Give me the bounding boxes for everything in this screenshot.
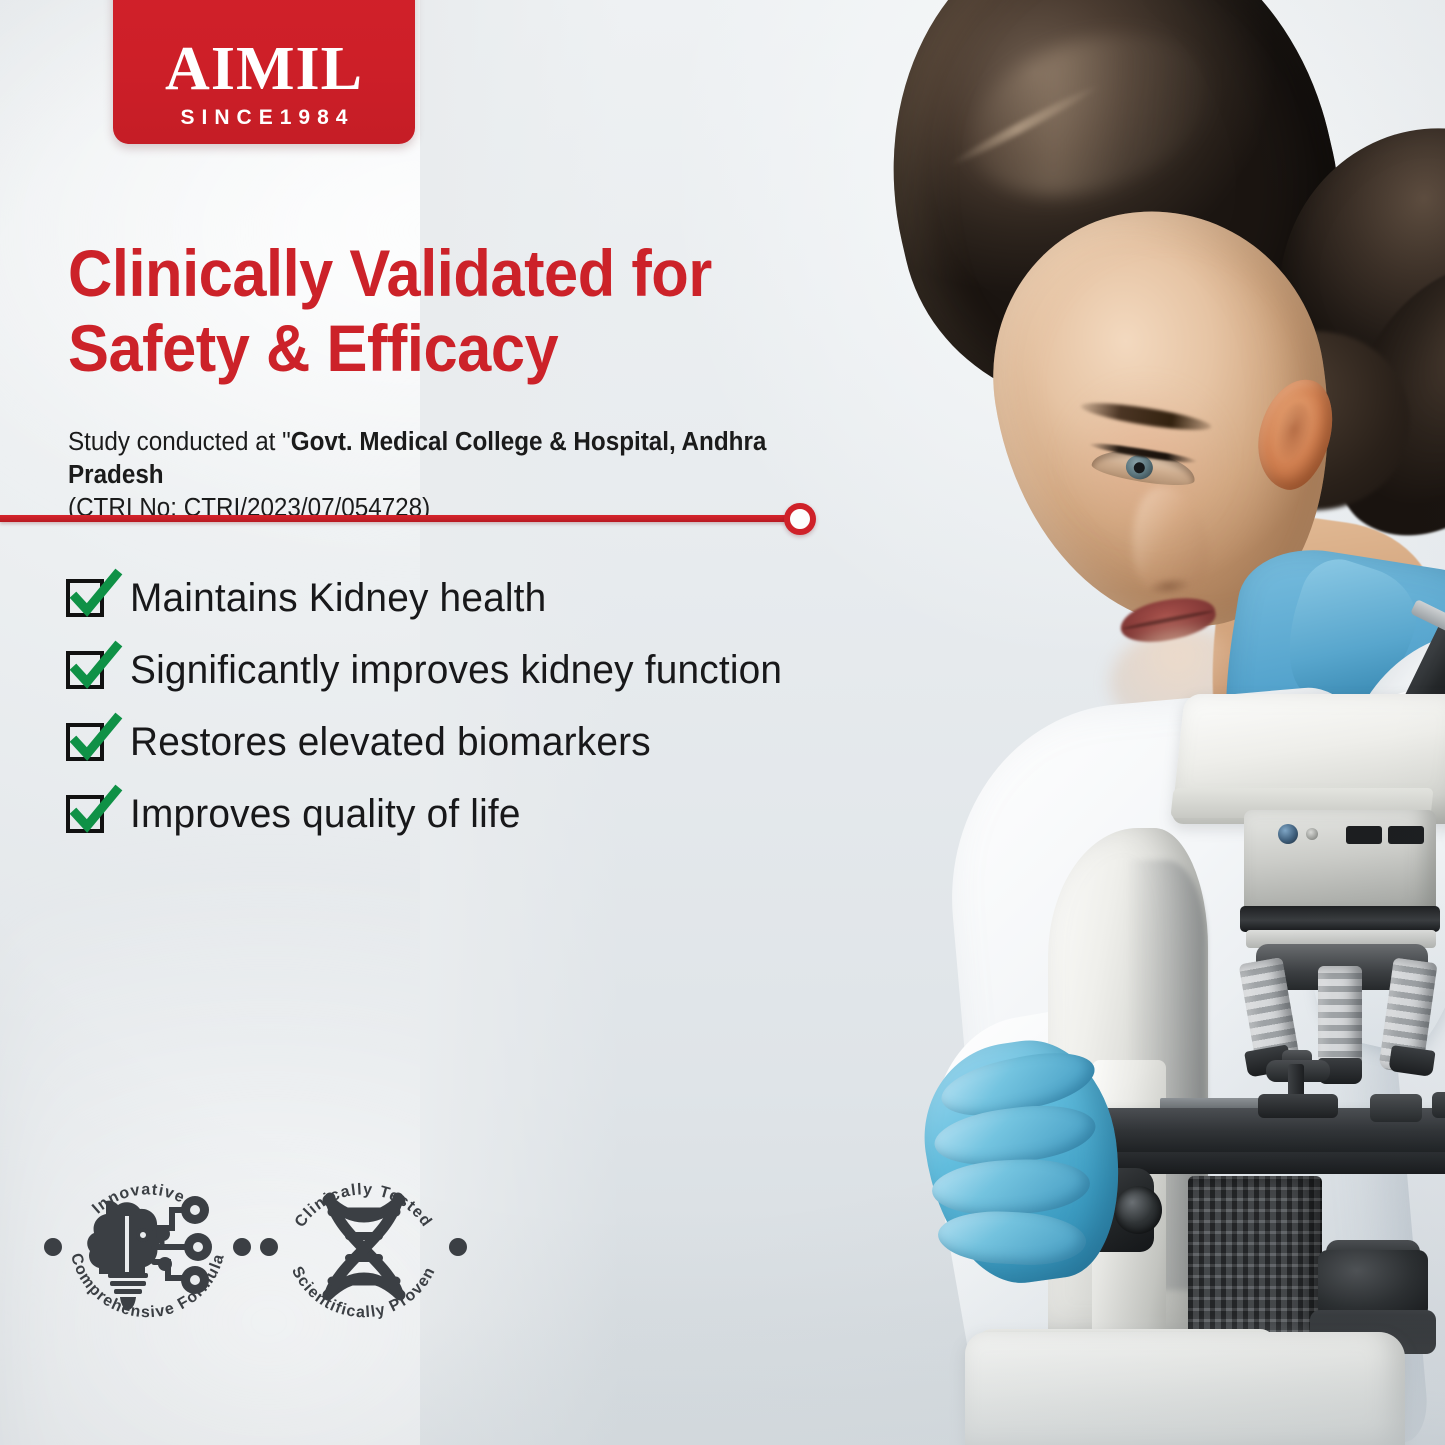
check-icon bbox=[69, 787, 121, 839]
logo-tagline: SINCE1984 bbox=[174, 106, 355, 130]
check-icon bbox=[69, 571, 121, 623]
badge-clinically-tested: Clinically Tested Scientifically Proven bbox=[256, 1140, 471, 1355]
divider-end-node bbox=[784, 503, 816, 535]
list-item-label: Maintains Kidney health bbox=[130, 576, 546, 621]
checkbox-checked-icon bbox=[66, 723, 104, 761]
creative-canvas: AIMIL SINCE1984 Clinically Validated for… bbox=[0, 0, 1445, 1445]
divider-rule bbox=[0, 515, 800, 522]
badge-dot-left bbox=[44, 1238, 62, 1256]
subtitle-prefix: Study conducted at " bbox=[68, 428, 291, 456]
checkbox-checked-icon bbox=[66, 579, 104, 617]
aimil-logo[interactable]: AIMIL SINCE1984 bbox=[113, 0, 415, 144]
check-icon bbox=[69, 643, 121, 695]
logo-wordmark: AIMIL bbox=[165, 38, 363, 100]
badge-bottom-label: Scientifically Proven bbox=[288, 1264, 439, 1321]
checkbox-checked-icon bbox=[66, 651, 104, 689]
badge-top-label: Clinically Tested bbox=[292, 1181, 435, 1230]
list-item: Maintains Kidney health bbox=[66, 562, 896, 634]
badge-dot-left bbox=[260, 1238, 278, 1256]
headline-line-1: Clinically Validated for bbox=[68, 236, 712, 310]
list-item-label: Restores elevated biomarkers bbox=[130, 720, 651, 765]
list-item: Significantly improves kidney function bbox=[66, 634, 896, 706]
page-title: Clinically Validated for Safety & Effica… bbox=[68, 236, 775, 386]
benefits-list: Maintains Kidney health Significantly im… bbox=[66, 562, 896, 850]
trust-badges: Innovative & Comprehensive Formula bbox=[40, 1140, 500, 1355]
badge-dot-right bbox=[233, 1238, 251, 1256]
headline-line-2: Safety & Efficacy bbox=[68, 311, 775, 386]
badge-innovative-formula: Innovative & Comprehensive Formula bbox=[40, 1140, 255, 1355]
list-item: Improves quality of life bbox=[66, 778, 896, 850]
dna-helix-icon bbox=[328, 1198, 400, 1295]
list-item-label: Significantly improves kidney function bbox=[130, 648, 782, 693]
check-icon bbox=[69, 715, 121, 767]
list-item-label: Improves quality of life bbox=[130, 792, 521, 837]
checkbox-checked-icon bbox=[66, 795, 104, 833]
badge-dot-right bbox=[449, 1238, 467, 1256]
study-attribution: Study conducted at "Govt. Medical Colleg… bbox=[68, 426, 828, 525]
list-item: Restores elevated biomarkers bbox=[66, 706, 896, 778]
